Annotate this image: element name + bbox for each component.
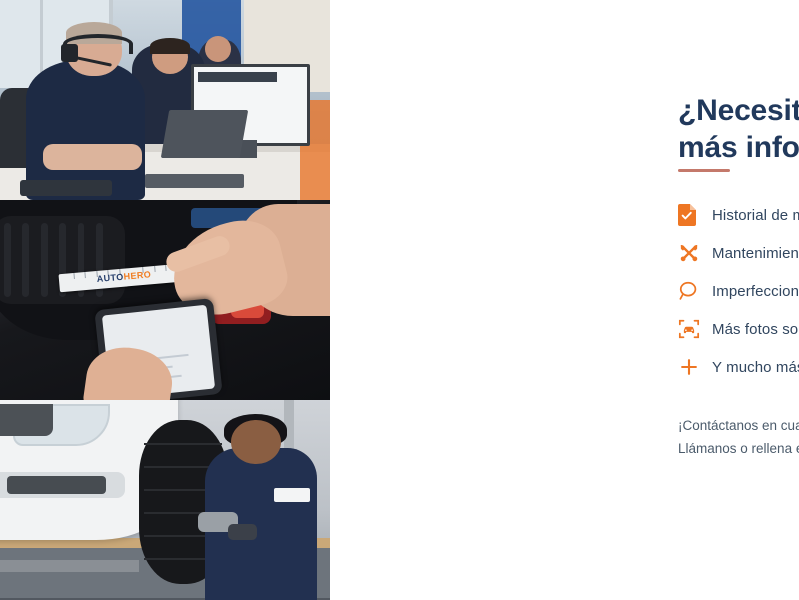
list-item-label: Más fotos sobre el coche — [712, 321, 799, 338]
list-item-label: Historial de mantenimientos — [712, 207, 799, 224]
list-item: Más fotos sobre el coche — [678, 310, 799, 348]
photo-call-centre: call-centre-agents-with-headsets — [0, 0, 330, 200]
page-title: ¿Necesitas más información? — [678, 92, 799, 166]
magnifier-icon — [678, 280, 712, 302]
feature-list: Historial de mantenimientos Mantenimient… — [678, 196, 799, 386]
contact-text: ¡Contáctanos en cualquier momento para m… — [678, 414, 799, 460]
list-item-label: Imperfecciones — [712, 283, 799, 300]
photo-inspection: AUTOHERO inspector-measuring-car-with-au… — [0, 200, 330, 400]
list-item: Y mucho más — [678, 348, 799, 386]
list-item-label: Y mucho más — [712, 359, 799, 376]
photo-collage: call-centre-agents-with-headsets AUTOHER… — [0, 0, 330, 600]
car-scan-icon — [678, 318, 712, 340]
page-title-line2: más información? — [678, 131, 799, 164]
plus-icon — [678, 356, 712, 378]
list-item-label: Mantenimiento realizado — [712, 245, 799, 262]
photo-mechanic: mechanic-inspecting-white-car-tyre-on-li… — [0, 400, 330, 600]
promo-panel: call-centre-agents-with-headsets AUTOHER… — [0, 0, 799, 600]
document-check-icon — [678, 204, 712, 226]
page-title-line1: ¿Necesitas — [678, 94, 799, 127]
list-item: Imperfecciones — [678, 272, 799, 310]
list-item: Historial de mantenimientos — [678, 196, 799, 234]
wrench-screwdriver-icon — [678, 242, 712, 264]
contact-line1: ¡Contáctanos en cualquier momento para m… — [678, 418, 799, 433]
contact-line2: Llámanos o rellena el formulario de cont… — [678, 441, 799, 456]
content-panel: ¿Necesitas más información? Estamos enca… — [330, 0, 799, 600]
title-divider — [678, 169, 730, 172]
list-item: Mantenimiento realizado — [678, 234, 799, 272]
